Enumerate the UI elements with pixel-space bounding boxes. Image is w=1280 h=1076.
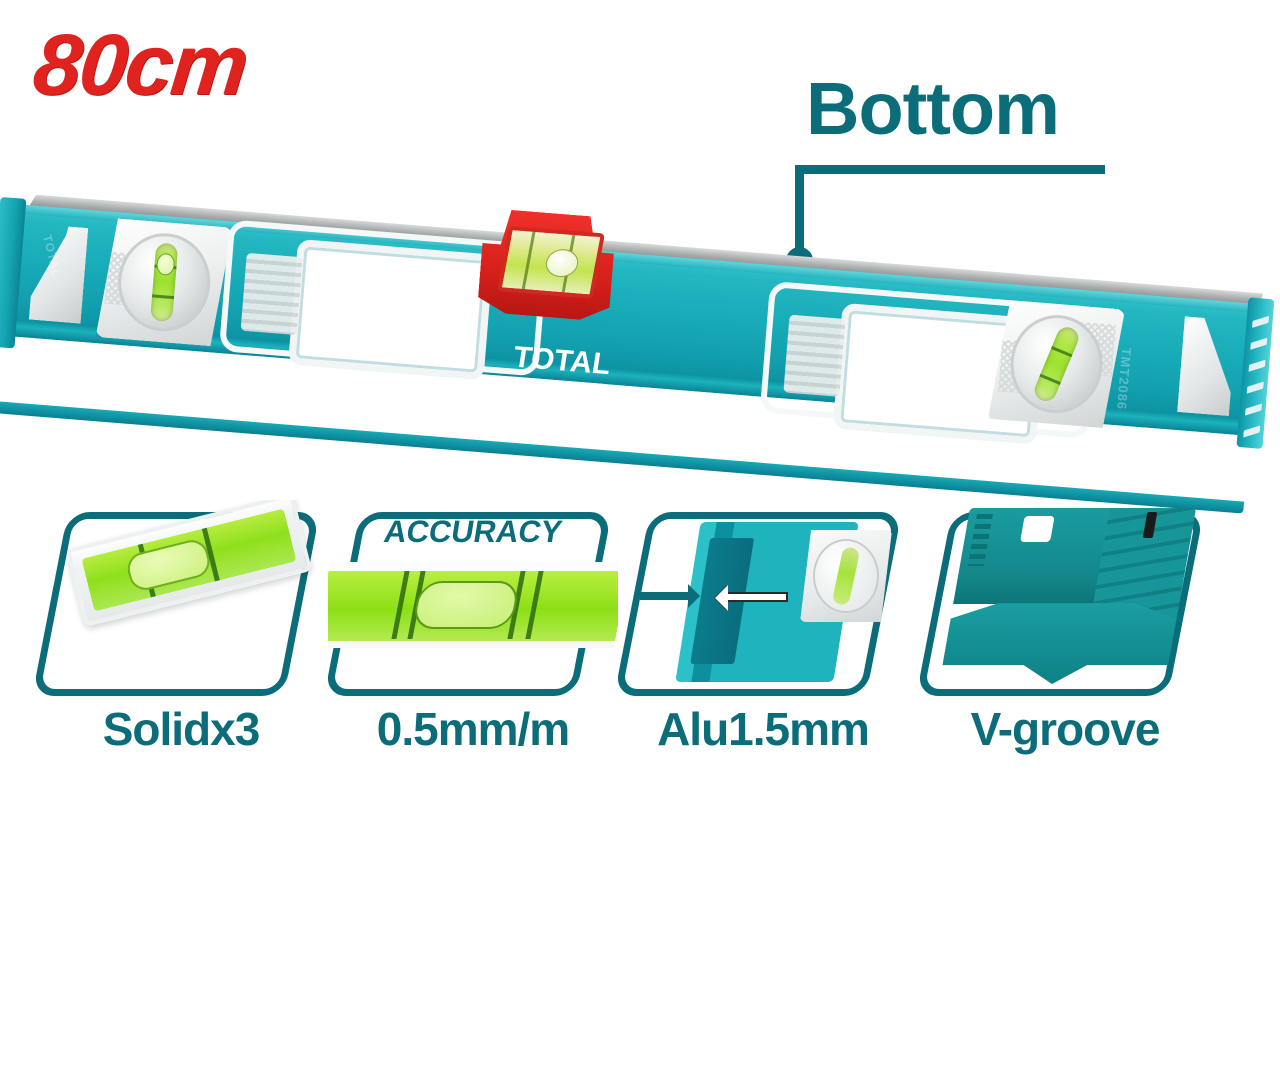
- feature-label-solidx3: Solidx3: [36, 706, 326, 752]
- brand-logo: TOTAL INDUSTRIAL: [496, 342, 625, 402]
- brand-subtitle: INDUSTRIAL: [510, 377, 605, 401]
- feature-label-vgroove: V-groove: [920, 706, 1210, 752]
- callout-leader-horizontal: [795, 165, 1105, 174]
- spirit-level-product: TOTAL INDUSTRIAL TMT2086 TOTAL: [0, 186, 1280, 466]
- vial-housing-right: [988, 299, 1125, 429]
- v-groove-profile: [938, 508, 1196, 690]
- spirit-vial-icon: [36, 500, 326, 705]
- feature-row: Solidx3 ACCURACY 0.5mm/m: [0, 500, 1280, 790]
- alu-profile-icon: [618, 500, 908, 705]
- handle-cutout-1: [288, 239, 493, 380]
- feature-solid-vials: Solidx3: [36, 500, 336, 790]
- thickness-arrow-left-icon: [640, 592, 696, 600]
- v-groove-hole: [1020, 516, 1055, 542]
- size-badge: 80cm: [29, 22, 250, 108]
- grip-ribs-2: [783, 315, 845, 397]
- alu-vial-glass: [832, 546, 861, 606]
- center-vial-bubble: [543, 248, 580, 278]
- alu-vial-housing: [800, 530, 892, 622]
- accuracy-vial-icon: ACCURACY: [328, 500, 618, 705]
- callout-label-bottom: Bottom: [806, 72, 1059, 146]
- feature-label-accuracy: 0.5mm/m: [328, 706, 618, 752]
- level-beam-group: TOTAL INDUSTRIAL TMT2086 TOTAL: [0, 204, 1260, 504]
- brand-name: TOTAL: [499, 342, 625, 382]
- grip-ribs-1: [241, 253, 303, 335]
- v-groove-icon: [920, 500, 1210, 705]
- thickness-arrow-right-icon: [722, 592, 788, 602]
- feature-v-groove: V-groove: [920, 500, 1220, 790]
- accuracy-vial-closeup: [328, 562, 618, 648]
- vial-glass-right: [1031, 324, 1081, 404]
- vial-housing-left: [96, 217, 233, 347]
- product-image-canvas: 80cm Bottom: [0, 0, 1280, 1076]
- alu-vial-window: [813, 539, 879, 613]
- accuracy-caption: ACCURACY: [328, 514, 618, 550]
- vial-bubble-2: [411, 581, 520, 629]
- feature-label-alu: Alu1.5mm: [618, 706, 908, 752]
- v-groove-bottom-face: [939, 598, 1180, 684]
- feature-accuracy: ACCURACY 0.5mm/m: [328, 500, 628, 790]
- vial-window-left: [114, 230, 214, 335]
- center-horizontal-vial: [497, 226, 605, 299]
- feature-alu-thickness: Alu1.5mm: [618, 500, 918, 790]
